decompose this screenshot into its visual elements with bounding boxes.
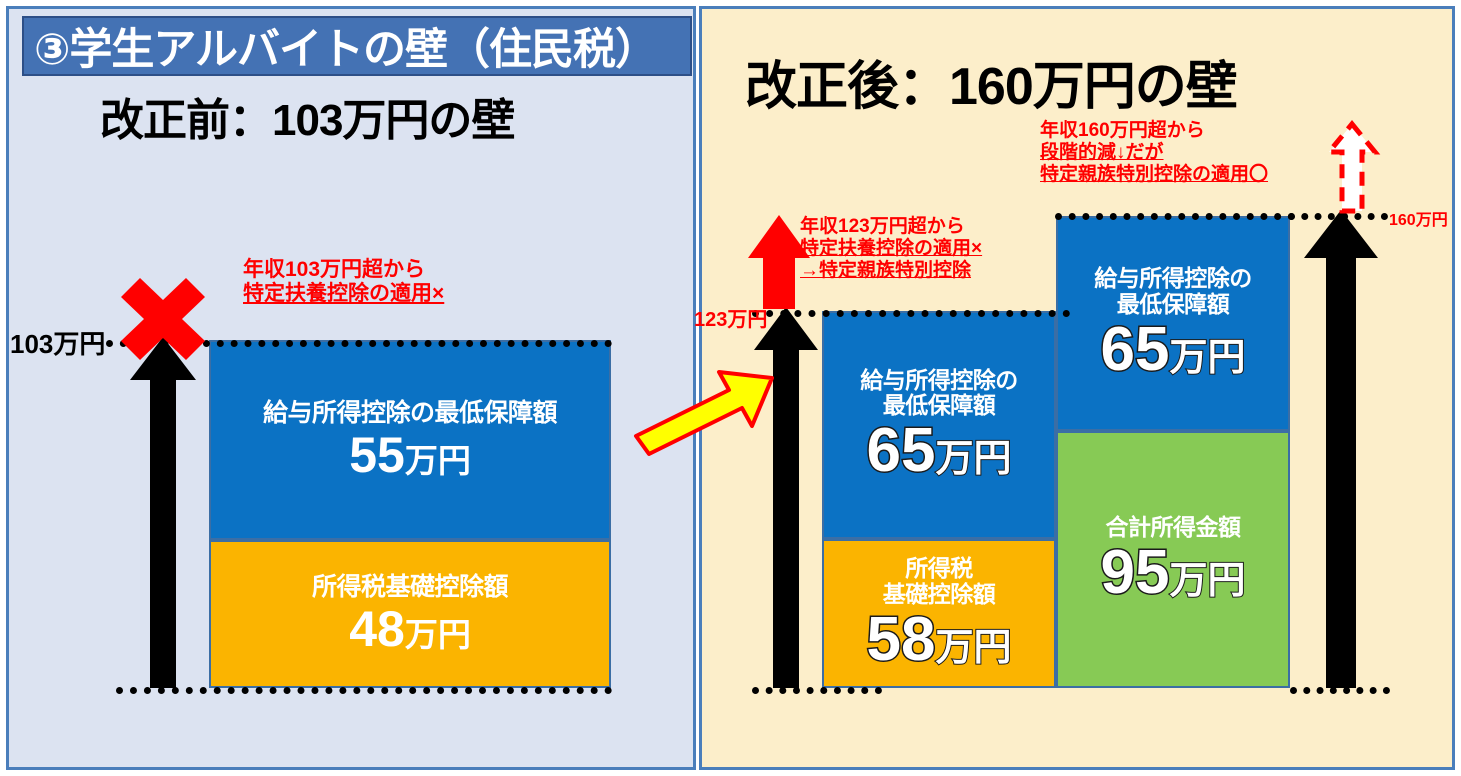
bar-segment-before-basic-deduction: 所得税基礎控除額 48万円 [209,540,611,688]
segment-label-line2: 最低保障額 [1117,292,1230,317]
note-line-1: 年収160万円超から [1040,120,1268,142]
segment-amount: 95万円 [1101,542,1246,604]
segment-amount: 65万円 [1101,319,1246,381]
segment-amount: 58万円 [867,609,1012,671]
segment-amount-number: 65 [1101,315,1170,384]
segment-amount-unit: 万円 [405,442,471,479]
guide-line-160-left [1055,213,1295,220]
note-after-revision: 年収160万円超から 段階的減↓だが 特定親族特別控除の適用〇 [1040,120,1268,186]
note-line-2: 特定扶養控除の適用× [243,282,444,306]
bar-segment-mid-basic-deduction: 所得税 基礎控除額 58万円 [822,539,1056,688]
page-title: ③学生アルバイトの壁（住民税） [22,16,692,76]
title-after-revision: 改正後：160万円の壁 [745,44,1237,119]
segment-label-line1: 所得税 [905,556,973,581]
segment-label-line1: 給与所得控除の [1094,266,1252,291]
segment-amount-number: 95 [1101,538,1170,607]
segment-label-line2: 基礎控除額 [883,582,996,607]
segment-amount-unit: 万円 [405,616,471,653]
baseline-left [116,687,612,694]
note-line-1: 年収123万円超から [800,216,982,238]
segment-amount-unit: 万円 [1169,337,1245,379]
subtitle-before: 改正前：103万円の壁 [100,84,514,148]
baseline-right-2 [1290,687,1390,694]
guide-line-103 [106,340,612,347]
guide-line-160 [1288,213,1388,220]
bar-segment-after-salary-deduction: 給与所得控除の 最低保障額 65万円 [1056,216,1290,431]
bar-segment-before-salary-deduction: 給与所得控除の最低保障額 55万円 [209,340,611,540]
segment-label-line1: 合計所得金額 [1106,515,1241,540]
guide-line-123 [752,310,1070,317]
segment-amount-unit: 万円 [935,438,1011,480]
note-line-2: 特定扶養控除の適用× [800,238,982,260]
segment-amount-unit: 万円 [935,627,1011,669]
note-line-3: →特定親族特別控除 [800,260,982,282]
baseline-right [752,687,882,694]
segment-amount: 65万円 [867,420,1012,482]
segment-amount: 55万円 [349,430,471,480]
axis-label-160: 160万円 [1389,206,1448,230]
segment-amount-number: 65 [867,416,936,485]
segment-label-line1: 給与所得控除の [860,368,1018,393]
segment-amount: 48万円 [349,604,471,654]
segment-amount-number: 48 [349,601,405,657]
segment-amount-number: 55 [349,427,405,483]
segment-amount-unit: 万円 [1169,560,1245,602]
segment-label: 給与所得控除の最低保障額 [263,400,557,428]
note-line-1: 年収103万円超から [243,258,444,282]
segment-amount-number: 58 [867,605,936,674]
bar-segment-after-total-income: 合計所得金額 95万円 [1056,431,1290,688]
note-line-3: 特定親族特別控除の適用〇 [1040,164,1268,186]
axis-label-123: 123万円 [694,303,767,332]
segment-label: 所得税基礎控除額 [312,574,508,602]
note-line-2: 段階的減↓だが [1040,142,1268,164]
axis-label-103: 103万円 [10,324,105,361]
slide-root: ③学生アルバイトの壁（住民税） 改正前：103万円の壁 103万円 給与所得控除… [0,0,1461,776]
note-before-revision: 年収103万円超から 特定扶養控除の適用× [243,258,444,307]
bar-segment-mid-salary-deduction: 給与所得控除の 最低保障額 65万円 [822,311,1056,539]
segment-label-line2: 最低保障額 [883,393,996,418]
note-mid-revision: 年収123万円超から 特定扶養控除の適用× →特定親族特別控除 [800,216,982,282]
